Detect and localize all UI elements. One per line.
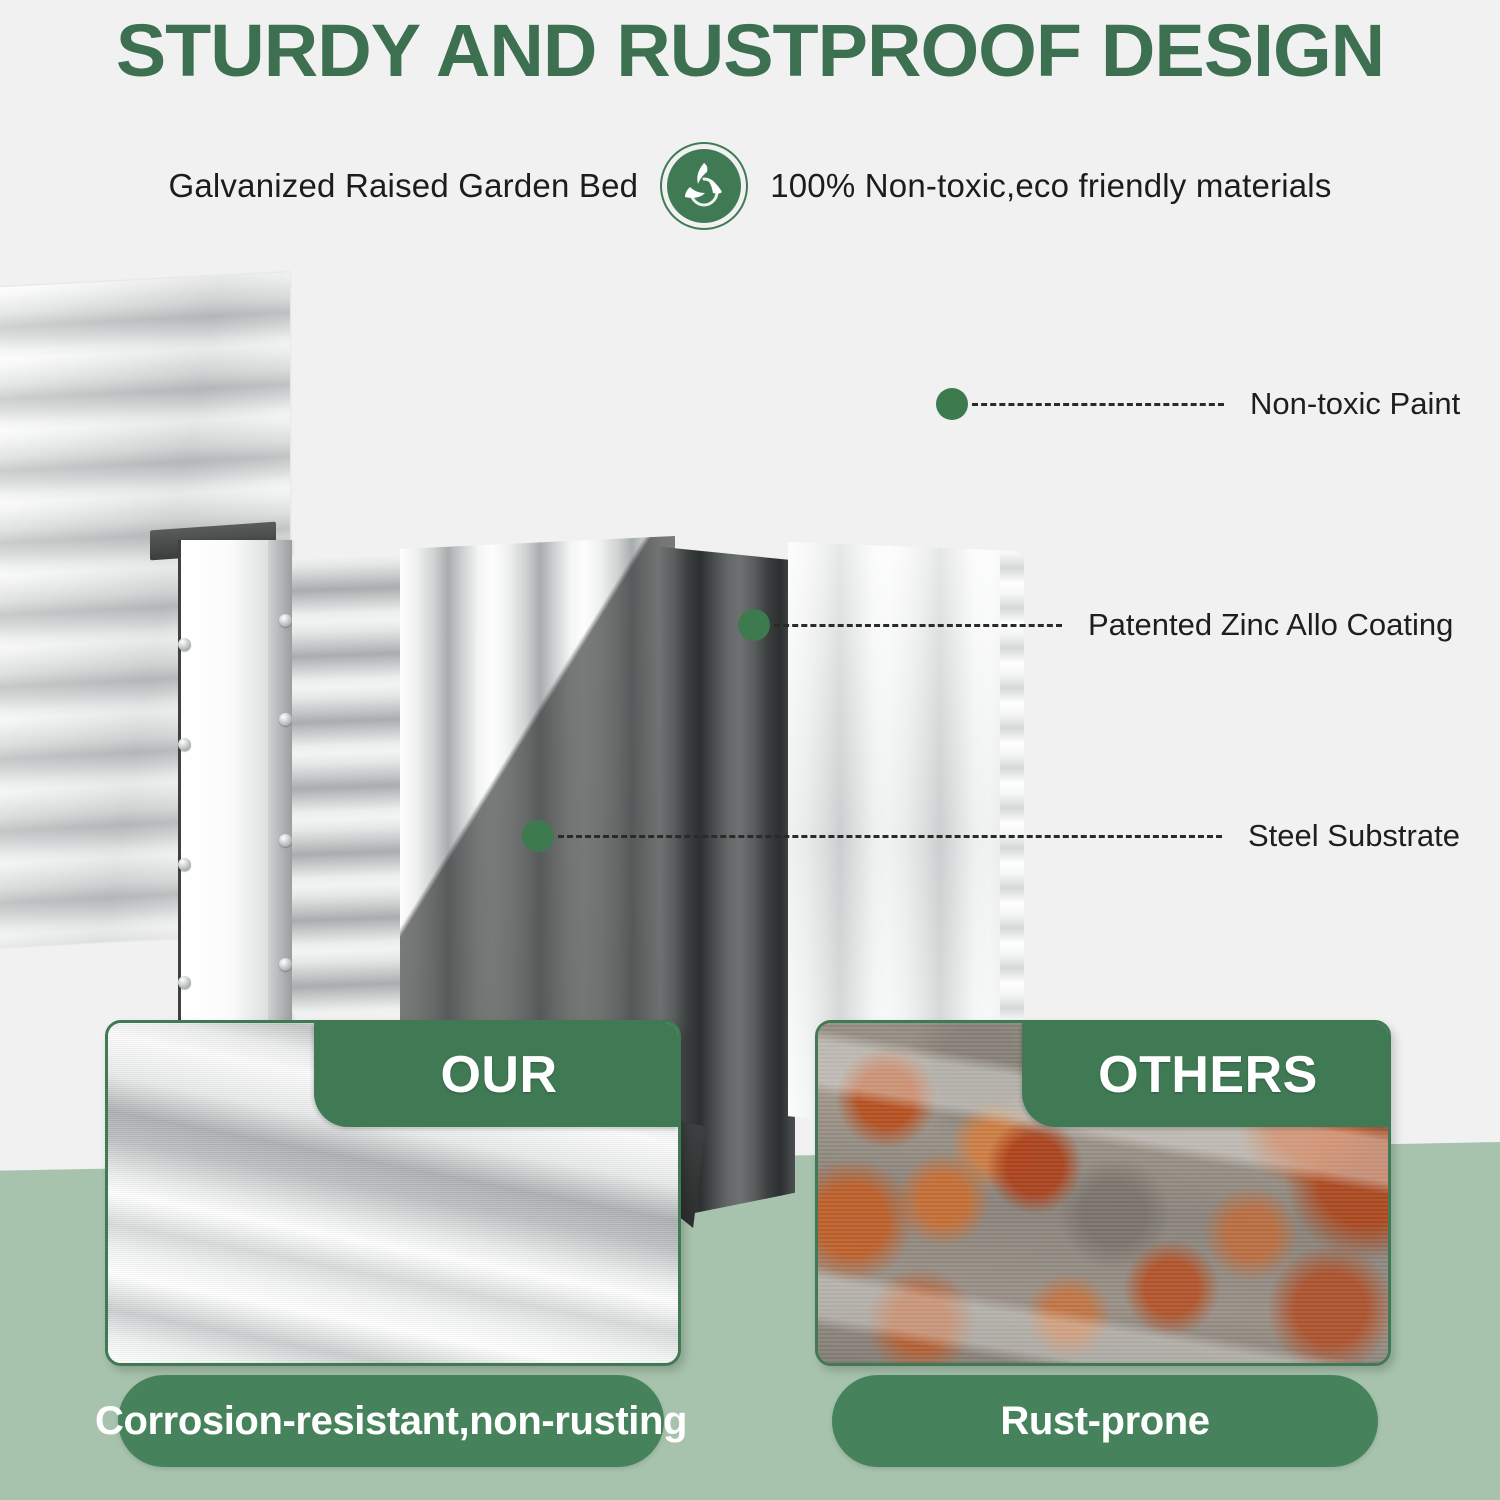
subtitle-left: Galvanized Raised Garden Bed [168, 167, 638, 205]
screw-icon [279, 713, 292, 726]
callout-leader-line [972, 403, 1224, 406]
infographic-page: STURDY AND RUSTPROOF DESIGN Galvanized R… [0, 0, 1500, 1500]
screw-icon [279, 958, 292, 971]
callout-patented-zinc-allo-coating: Patented Zinc Allo Coating [738, 607, 1453, 643]
screw-icon [178, 976, 191, 989]
caption-pill-our: Corrosion-resistant,non-rusting [118, 1375, 664, 1467]
screw-icon [279, 834, 292, 847]
callout-label: Non-toxic Paint [1250, 386, 1460, 422]
caption-pill-label: Corrosion-resistant,non-rusting [95, 1399, 687, 1444]
callout-non-toxic-paint: Non-toxic Paint [936, 386, 1460, 422]
callout-dot-icon [936, 388, 968, 420]
screw-icon [178, 738, 191, 751]
screw-icon [279, 614, 292, 627]
callout-label: Steel Substrate [1248, 818, 1460, 854]
subtitle-right: 100% Non-toxic,eco friendly materials [770, 167, 1331, 205]
card-tag-our: OUR [314, 1023, 678, 1127]
eco-leaves-recycle-icon [660, 142, 748, 230]
callout-dot-icon [738, 609, 770, 641]
caption-pill-others: Rust-prone [832, 1375, 1378, 1467]
card-tag-label: OTHERS [1098, 1045, 1318, 1105]
caption-pill-label: Rust-prone [1000, 1399, 1209, 1444]
screw-icon [178, 638, 191, 651]
page-title: STURDY AND RUSTPROOF DESIGN [0, 8, 1500, 94]
card-tag-label: OUR [440, 1045, 557, 1105]
comparison-card-our: OUR [105, 1020, 681, 1366]
callout-steel-substrate: Steel Substrate [522, 818, 1460, 854]
callout-dot-icon [522, 820, 554, 852]
screw-icon [178, 858, 191, 871]
subtitle-row: Galvanized Raised Garden Bed 100% Non-to… [0, 142, 1500, 230]
badge-leaves-glyph [667, 149, 741, 223]
callout-label: Patented Zinc Allo Coating [1088, 607, 1453, 643]
callout-leader-line [558, 835, 1222, 838]
comparison-card-others: OTHERS [815, 1020, 1391, 1366]
callout-leader-line [774, 624, 1062, 627]
card-tag-others: OTHERS [1022, 1023, 1388, 1127]
